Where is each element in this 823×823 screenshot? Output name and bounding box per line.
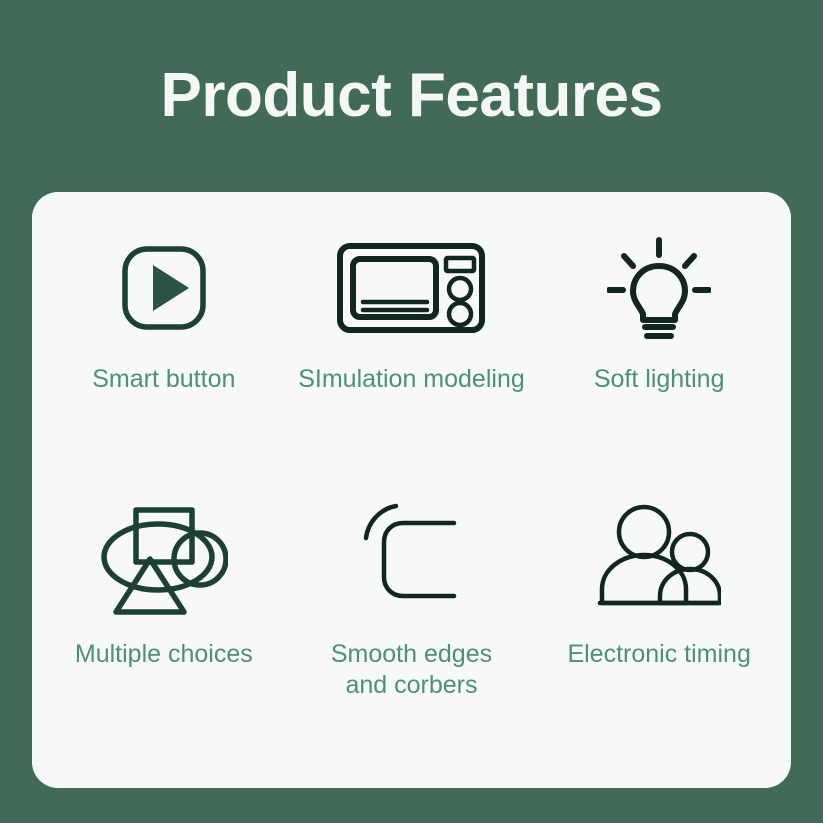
lightbulb-icon [607,228,711,348]
features-grid: Smart button SImulation modeling [32,192,791,788]
feature-item-smart-button[interactable]: Smart button [40,228,288,493]
feature-item-smooth-edges[interactable]: Smooth edgesand corbers [288,493,536,758]
microwave-icon [336,228,486,348]
feature-label: Multiple choices [75,639,253,670]
feature-item-electronic-timing[interactable]: Electronic timing [535,493,783,758]
feature-label: Electronic timing [567,639,750,670]
feature-label: Soft lighting [594,364,725,395]
play-button-icon [121,228,207,348]
feature-item-multiple-choices[interactable]: Multiple choices [40,493,288,758]
feature-item-soft-lighting[interactable]: Soft lighting [535,228,783,493]
feature-label: Smooth edgesand corbers [331,639,492,702]
shapes-icon [100,493,228,619]
rounded-corner-icon [362,493,460,619]
two-people-icon [597,493,721,619]
feature-label: SImulation modeling [298,364,525,395]
features-card: Smart button SImulation modeling [32,192,791,788]
page-title: Product Features [0,60,823,131]
product-features-page: Product Features Smart button [0,0,823,823]
feature-item-simulation-modeling[interactable]: SImulation modeling [288,228,536,493]
feature-label: Smart button [92,364,235,395]
